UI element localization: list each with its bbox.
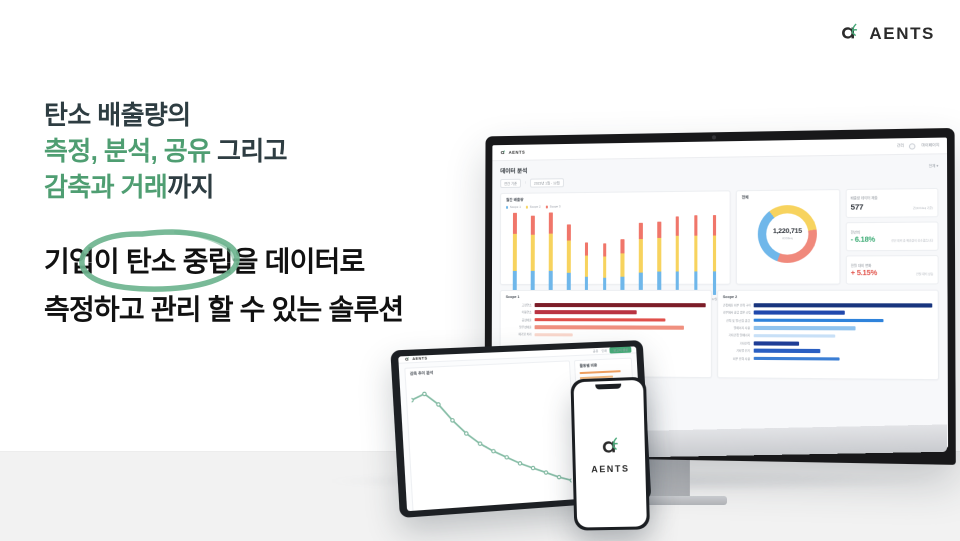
hbar-track: [753, 349, 932, 354]
hbar-track: [753, 326, 932, 330]
dashboard-row-top: 월간 배출량 Scope 1 Scope 2 Scope 3 1월2월3월4월5…: [500, 188, 939, 285]
bar-segment: [585, 256, 589, 277]
line-point: [505, 456, 509, 460]
hbar-label: 외부 전력 사용: [723, 356, 750, 360]
line-point: [544, 471, 548, 475]
hbar-row: 탈루성배출: [506, 325, 705, 330]
phone-device: AENTS: [572, 378, 648, 530]
bar-segment: [549, 233, 553, 271]
phone-bezel: AENTS: [570, 377, 650, 531]
aents-sprout-logo-icon: [404, 356, 411, 363]
line-series-path: [411, 387, 572, 491]
hbar-label: 기타열 전기: [723, 349, 750, 353]
bar-segment: [531, 235, 535, 272]
filter-separator: /: [525, 181, 526, 185]
bar-stack: [621, 240, 625, 296]
bar-segment: [567, 241, 571, 273]
line-point: [437, 403, 441, 407]
hbar-track: [753, 303, 932, 307]
hbar-row: 이동연소: [506, 310, 705, 314]
kpi-card-submissions: 배출량 데이터 제출 577 건(tCO2eq 기준): [845, 188, 938, 218]
bar-segment: [513, 213, 517, 234]
filter-chip[interactable]: 연간 기준: [500, 178, 521, 188]
hbar-row: 기타간접 열에너지: [723, 333, 933, 338]
card-title: 활동별 비중: [580, 362, 628, 369]
hbar-fill: [753, 334, 835, 338]
kpi-column: 배출량 데이터 제출 577 건(tCO2eq 기준) 전년비: [845, 188, 939, 285]
slide-canvas: AENTS 탄소 배출량의 측정, 분석, 공유 그리고 감축과 거래까지 기업…: [0, 0, 960, 541]
hbar-fill: [753, 311, 844, 315]
filter-chip[interactable]: 2023년 1월 - 12월: [530, 178, 564, 188]
bar-stack: [639, 222, 643, 295]
kpi-label: 전년비: [851, 229, 933, 235]
headline-line-2-green: 측정, 분석, 공유: [44, 136, 217, 166]
bar-segment: [531, 216, 535, 235]
bar-segment: [639, 239, 643, 272]
card-title: 월간 배출량: [506, 195, 724, 202]
headline-secondary: 기업이 탄소 중립을 데이터로 측정하고 관리 할 수 있는 솔루션: [44, 238, 514, 334]
webcam-icon: [712, 135, 716, 139]
mini-bar: [580, 370, 621, 375]
hbar-row: 폐기물 처리: [506, 333, 706, 338]
hbar-row: 공정배출: [506, 318, 705, 323]
hbar-row: 전력 및 열/스팀 공급: [723, 318, 932, 323]
hbar-row: 외부 전력 사용: [723, 356, 933, 362]
phone-splash-wordmark: AENTS: [591, 464, 630, 475]
scope2-bar-list: 간접배출 외부 전력 구매외부에서 공급 받은 스팀전력 및 열/스팀 공급열에…: [723, 303, 933, 362]
monthly-emissions-card: 월간 배출량 Scope 1 Scope 2 Scope 3 1월2월3월4월5…: [500, 190, 730, 285]
bar-stack: [531, 216, 535, 296]
line-chart-svg: [410, 372, 574, 511]
hbar-row: 기타전력: [723, 341, 933, 346]
hbar-track: [753, 341, 932, 346]
aents-sprout-logo-icon: [597, 434, 624, 461]
line-point: [423, 393, 427, 397]
hbar-track: [753, 357, 932, 362]
hbar-row: 기타열 전기: [723, 349, 933, 354]
hbar-row: 외부에서 공급 받은 스팀: [723, 311, 932, 316]
bar-column: 9월: [651, 212, 668, 301]
bar-column: 11월: [687, 211, 704, 301]
aents-sprout-logo-icon: [836, 20, 862, 46]
line-point: [465, 432, 469, 436]
bar-column: 6월: [596, 212, 613, 301]
bar-column: 12월: [706, 211, 723, 301]
bar-segment: [639, 222, 643, 239]
card-title: Scope 2: [723, 295, 932, 299]
hbar-label: 외부에서 공급 받은 스팀: [723, 311, 750, 315]
legend-swatch-icon: [546, 206, 548, 208]
hbar-track: [535, 333, 706, 337]
legend-swatch-icon: [506, 206, 508, 208]
brand-wordmark: AENTS: [869, 25, 935, 42]
bar-segment: [676, 235, 680, 271]
bar-segment: [621, 240, 625, 254]
subheadline-line-1: 기업이 탄소 중립을 데이터로: [44, 238, 514, 286]
kpi-label: 배출량 데이터 제출: [851, 194, 933, 200]
aents-sprout-logo-icon: [499, 149, 506, 156]
phone-screen: AENTS: [573, 380, 646, 528]
hbar-fill: [535, 303, 706, 307]
bar-segment: [676, 216, 680, 235]
hbar-track: [535, 303, 706, 307]
hbar-fill: [535, 318, 666, 322]
bar-segment: [585, 243, 589, 256]
headline-line-2-dark: 그리고: [217, 136, 287, 166]
kpi-label: 전월 대비 변화: [851, 262, 934, 268]
bar-column: 8월: [632, 212, 649, 301]
dashboard-logo[interactable]: AENTS: [499, 149, 525, 156]
line-point: [410, 399, 413, 403]
bar-segment: [657, 221, 661, 238]
dashboard-logo-word: AENTS: [509, 150, 526, 155]
bar-column: 10월: [669, 212, 686, 301]
period-selector[interactable]: 전체 ▾: [929, 163, 939, 168]
card-title: 전체: [742, 195, 749, 200]
kpi-sub: 건(tCO2eq 기준): [913, 207, 933, 211]
bar-segment: [712, 215, 716, 235]
line-chart: [410, 372, 574, 511]
card-title: Scope 1: [506, 295, 705, 299]
kpi-card-mom: 전월 대비 변화 + 5.15% 전월 대비 상승: [845, 255, 938, 285]
donut-value: 1,220,715: [773, 228, 802, 235]
hbar-track: [753, 311, 932, 315]
bar-column: 4월: [560, 213, 577, 301]
kpi-card-yoy: 전년비 - 6.18% 전년 대비 총 배출량이 감소했습니다: [845, 221, 938, 251]
line-point: [451, 419, 455, 423]
bar-segment: [694, 215, 698, 235]
bar-segment: [712, 271, 716, 295]
dashboard-topbar-right: 관리 마이페이지: [897, 142, 939, 149]
headline-line-3-green: 감축과 거래: [44, 172, 167, 202]
hbar-fill: [753, 303, 932, 307]
total-emissions-donut-card: 전체 1,220,715 tCO2eq: [735, 189, 840, 285]
hbar-track: [753, 334, 932, 339]
bar-segment: [712, 235, 716, 271]
hbar-fill: [753, 341, 799, 345]
scope1-bar-list: 고정연소이동연소공정배출탈루성배출폐기물 처리: [506, 303, 706, 338]
bar-stack: [585, 243, 589, 296]
filter-row: 연간 기준 / 2023년 1월 - 12월: [500, 173, 938, 188]
hbar-track: [753, 319, 932, 323]
bar-column: 7월: [614, 212, 631, 301]
kpi-value: - 6.18%: [851, 236, 875, 243]
hbar-track: [535, 311, 706, 315]
hbar-label: 간접배출 외부 전력 구매: [723, 303, 750, 307]
line-point: [531, 467, 535, 471]
bar-column: 2월: [525, 213, 542, 301]
kpi-sub: 전월 대비 상승: [916, 273, 933, 276]
hbar-fill: [535, 311, 637, 315]
topbar-user-label[interactable]: 마이페이지: [921, 143, 939, 149]
tablet-logo-word: AENTS: [412, 356, 427, 361]
hbar-fill: [753, 319, 883, 323]
bar-stack: [657, 221, 661, 295]
reduction-trend-card: 감축 추이 분석: [404, 361, 579, 512]
line-point: [478, 442, 482, 446]
subheadline-line-2: 측정하고 관리 할 수 있는 솔루션: [44, 286, 514, 334]
generate-report-button[interactable]: 보고서 생성: [610, 347, 632, 354]
bar-stack: [712, 215, 716, 295]
line-point: [492, 450, 496, 454]
hbar-fill: [753, 326, 856, 330]
donut-unit: tCO2eq: [782, 236, 792, 240]
hbar-track: [535, 325, 706, 329]
bar-segment: [657, 238, 661, 271]
print-action[interactable]: 인쇄: [601, 349, 607, 353]
bar-stack: [549, 213, 553, 296]
bar-segment: [694, 235, 698, 271]
share-action[interactable]: 공유: [593, 349, 599, 353]
stacked-bar-chart: 1월2월3월4월5월6월7월8월9월10월11월12월: [506, 207, 724, 301]
hbar-row: 열에너지 사용: [723, 326, 932, 331]
hbar-row: 고정연소: [506, 303, 705, 307]
hbar-fill: [753, 349, 821, 353]
topbar-menu-item[interactable]: 관리: [897, 143, 904, 148]
bar-segment: [567, 224, 571, 241]
kpi-sub: 전년 대비 총 배출량이 감소했습니다: [891, 239, 933, 243]
phone-notch: [595, 384, 621, 390]
kpi-value: + 5.15%: [851, 270, 877, 277]
bar-segment: [603, 257, 607, 278]
legend-swatch-icon: [526, 206, 528, 208]
bar-column: 3월: [542, 213, 559, 301]
hbar-label: 기타간접 열에너지: [723, 333, 750, 337]
hbar-fill: [535, 333, 574, 337]
headline-line-3-dark: 까지: [167, 172, 214, 202]
donut-center-label: 1,220,715 tCO2eq: [766, 213, 808, 255]
hbar-label: 기타전력: [723, 341, 750, 345]
hbar-fill: [753, 357, 839, 361]
bar-segment: [603, 243, 607, 256]
page-title: 데이터 분석: [500, 167, 527, 175]
line-point: [518, 462, 522, 466]
bar-column: 5월: [578, 212, 595, 301]
headline-line-1: 탄소 배출량의: [44, 100, 191, 130]
hbar-track: [535, 318, 706, 322]
bar-segment: [621, 254, 625, 277]
kpi-value: 577: [851, 202, 864, 211]
donut-chart: 1,220,715 tCO2eq: [758, 205, 817, 263]
user-avatar-icon[interactable]: [909, 143, 916, 149]
bar-stack: [676, 216, 680, 295]
bar-stack: [567, 224, 571, 295]
bar-stack: [694, 215, 698, 295]
scope2-card: Scope 2 간접배출 외부 전력 구매외부에서 공급 받은 스팀전력 및 열…: [717, 290, 939, 380]
hbar-label: 열에너지 사용: [723, 326, 750, 330]
bar-stack: [603, 243, 607, 295]
hbar-fill: [535, 325, 684, 329]
hbar-label: 전력 및 열/스팀 공급: [723, 318, 750, 322]
brand-logo: AENTS: [836, 20, 935, 46]
tablet-logo[interactable]: AENTS: [404, 355, 428, 362]
line-point: [557, 476, 561, 480]
bar-segment: [549, 213, 553, 234]
hbar-row: 간접배출 외부 전력 구매: [723, 303, 932, 307]
